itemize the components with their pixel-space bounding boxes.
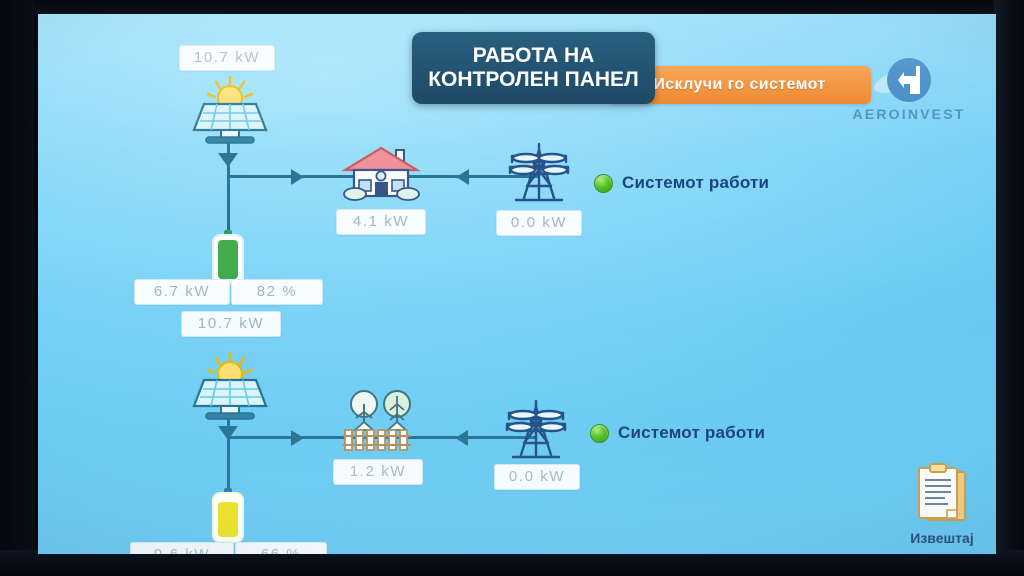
brand-logo: AEROINVEST [844,54,974,122]
solar-panel-icon-2[interactable] [184,352,276,420]
battery-power-value-2: 9.6 kW [130,542,234,554]
power-off-system-label: Исклучи го системот [653,76,825,94]
flow-arrow-down-1 [218,153,238,167]
overlay-caption-line2: КОНТРОЛЕН ПАНЕЛ [428,68,639,92]
flow-arrow-right-2 [291,430,304,446]
solar-production-value-1: 10.7 kW [179,45,275,71]
status-dot-icon-1 [594,174,613,193]
brand-name: AEROINVEST [844,106,974,122]
report-button[interactable]: Извештај [896,462,988,546]
flow-arrow-left-2 [455,430,468,446]
system-status-label-1: Системот работи [622,173,769,193]
garden-consumption-value: 1.2 kW [333,459,423,485]
solar-panel-icon-1[interactable] [184,76,276,144]
garden-fence-icon[interactable] [337,388,421,452]
battery-power-value-1: 6.7 kW [134,279,230,305]
system-status-1: Системот работи [594,173,769,193]
bezel-left [0,0,34,576]
control-panel-screen: 10.7 kW 4.1 kW [38,14,996,554]
bezel-right [994,0,1024,576]
house-consumption-value: 4.1 kW [336,209,426,235]
grid-exchange-value-2: 0.0 kW [494,464,580,490]
bezel-top [0,0,1024,14]
battery-icon-1[interactable] [210,230,246,286]
report-button-label: Извештај [896,530,988,546]
grid-exchange-value-1: 0.0 kW [496,210,582,236]
status-dot-icon-2 [590,424,609,443]
battery-icon-2[interactable] [210,488,246,544]
aeroinvest-logo-icon [844,54,974,110]
battery-charge-value-1: 82 % [231,279,323,305]
power-pylon-icon-1[interactable] [504,142,574,204]
power-pylon-icon-2[interactable] [501,399,571,461]
overlay-caption: РАБОТА НА КОНТРОЛЕН ПАНЕЛ [412,32,655,104]
system-status-2: Системот работи [590,423,765,443]
flow-arrow-left-1 [456,169,469,185]
flow-arrow-right-1 [291,169,304,185]
system-status-label-2: Системот работи [618,423,765,443]
battery-charge-value-2: 66 % [235,542,327,554]
battery-throughput-value-1: 10.7 kW [181,311,281,337]
report-document-icon [911,462,973,528]
house-icon[interactable] [338,142,424,202]
screen-photo: 10.7 kW 4.1 kW [0,0,1024,576]
overlay-caption-line1: РАБОТА НА [473,44,595,68]
